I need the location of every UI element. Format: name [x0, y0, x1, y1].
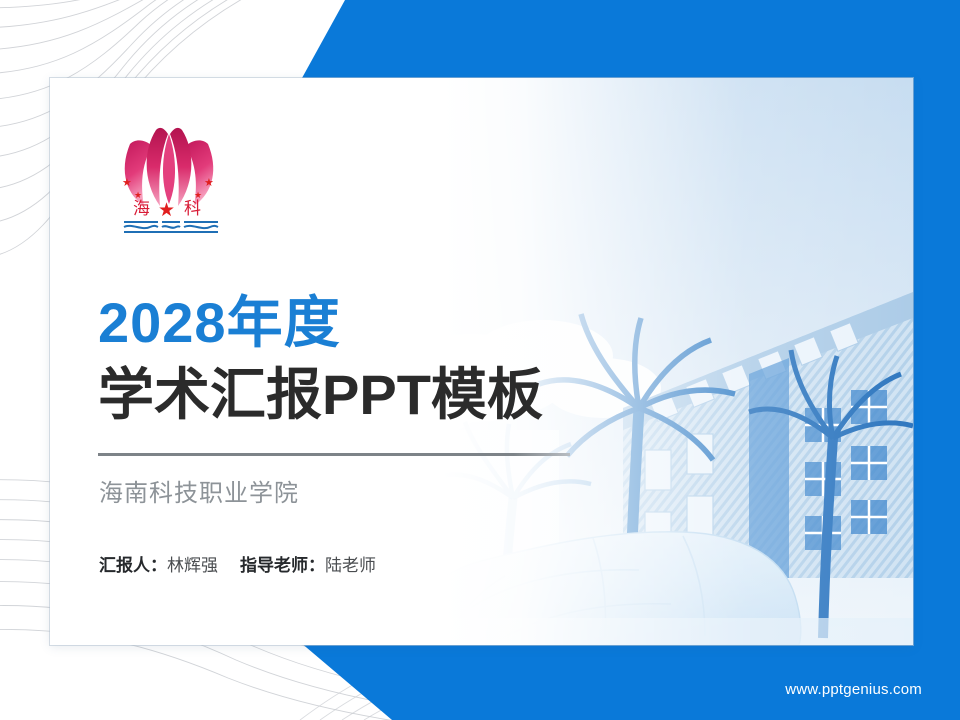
logo-char-left: 海: [133, 199, 150, 219]
title-card: ★ ★ ★ ★ 海 ★ 科: [50, 78, 913, 645]
footer-url[interactable]: www.pptgenius.com: [785, 681, 922, 698]
school-name: 海南科技职业学院: [99, 478, 299, 510]
presenter-name: 林辉强: [167, 556, 218, 575]
title-divider: [98, 453, 570, 456]
presentation-title-slide: ★ ★ ★ ★ 海 ★ 科: [0, 0, 960, 720]
top-blue-band: [0, 0, 960, 78]
logo-star-left: ★: [122, 176, 132, 189]
advisor-label: 指导老师：: [240, 556, 325, 575]
credits-line: 汇报人：林辉强指导老师：陆老师: [99, 554, 376, 578]
title-year: 2028年度: [98, 292, 341, 354]
logo-char-right: 科: [184, 199, 201, 219]
logo-center-star: ★: [158, 199, 175, 221]
card-content: ★ ★ ★ ★ 海 ★ 科: [98, 78, 618, 645]
presenter-label: 汇报人：: [99, 556, 167, 575]
advisor-name: 陆老师: [325, 556, 376, 575]
logo-waves: [124, 222, 218, 232]
school-logo: ★ ★ ★ ★ 海 ★ 科: [100, 110, 238, 238]
title-main: 学术汇报PPT模板: [98, 364, 543, 426]
logo-star-right: ★: [204, 176, 214, 189]
